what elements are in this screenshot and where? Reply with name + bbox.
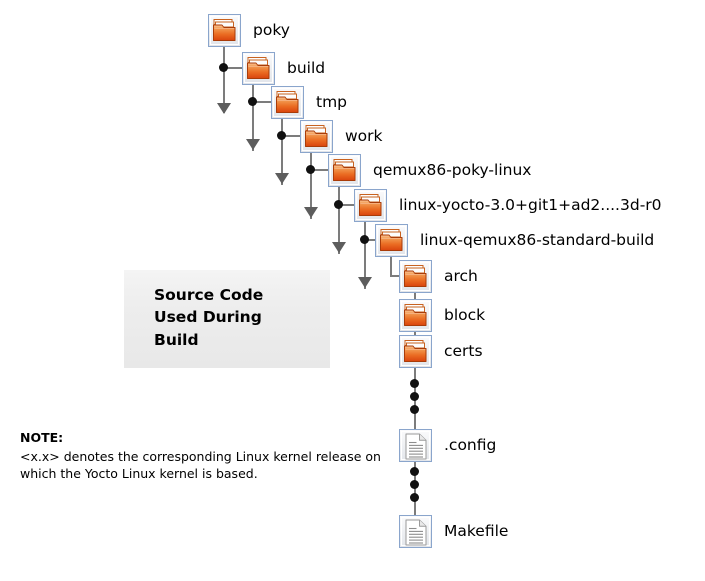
tree-node-work[interactable]: work: [300, 120, 383, 153]
tree-node-label: block: [444, 308, 485, 324]
file-icon: [399, 515, 432, 548]
source-code-callout-box: Source Code Used During Build: [124, 270, 330, 368]
vertical-ellipsis-icon: [410, 392, 419, 401]
folder-icon: [399, 299, 432, 332]
tree-node-label: arch: [444, 269, 478, 285]
note-body: <x.x> denotes the corresponding Linux ke…: [20, 448, 390, 483]
directory-tree-diagram: poky build: [0, 0, 705, 581]
vertical-ellipsis-icon: [410, 480, 419, 489]
tree-node-label: linux-yocto-3.0+git1+ad2....3d-r0: [399, 198, 662, 214]
down-arrow-icon: [304, 207, 318, 218]
tree-node-tmp[interactable]: tmp: [271, 86, 347, 119]
junction-dot-icon: [306, 165, 315, 174]
folder-icon: [375, 224, 408, 257]
tree-node-linux-yocto[interactable]: linux-yocto-3.0+git1+ad2....3d-r0: [354, 189, 662, 222]
folder-icon: [208, 14, 241, 47]
connector-vline-stdbuild: [390, 257, 392, 277]
junction-dot-icon: [334, 200, 343, 209]
down-arrow-icon: [275, 173, 289, 184]
down-arrow-icon: [358, 277, 372, 288]
file-icon: [399, 429, 432, 462]
vertical-ellipsis-icon: [410, 467, 419, 476]
tree-node-label: qemux86-poky-linux: [373, 163, 531, 179]
vertical-ellipsis-icon: [410, 493, 419, 502]
junction-dot-icon: [360, 235, 369, 244]
note-title: NOTE:: [20, 430, 390, 447]
tree-node-makefile[interactable]: Makefile: [399, 515, 508, 548]
vertical-ellipsis-icon: [410, 379, 419, 388]
junction-dot-icon: [248, 97, 257, 106]
tree-node-linux-qemux86-standard-build[interactable]: linux-qemux86-standard-build: [375, 224, 654, 257]
tree-node-label: linux-qemux86-standard-build: [420, 233, 654, 249]
tree-node-label: tmp: [316, 95, 347, 111]
tree-node-build[interactable]: build: [242, 52, 325, 85]
folder-icon: [354, 189, 387, 222]
tree-node-qemux86-poky-linux[interactable]: qemux86-poky-linux: [328, 154, 531, 187]
tree-node-label: poky: [253, 23, 290, 39]
tree-node-dotconfig[interactable]: .config: [399, 429, 496, 462]
tree-node-label: certs: [444, 344, 483, 360]
callout-text: Source Code Used During Build: [154, 284, 263, 351]
tree-node-block[interactable]: block: [399, 299, 485, 332]
note-block: NOTE: <x.x> denotes the corresponding Li…: [20, 430, 390, 482]
tree-node-arch[interactable]: arch: [399, 260, 478, 293]
down-arrow-icon: [246, 139, 260, 150]
folder-icon: [242, 52, 275, 85]
tree-node-label: Makefile: [444, 524, 508, 540]
tree-node-label: build: [287, 61, 325, 77]
folder-icon: [399, 335, 432, 368]
tree-node-certs[interactable]: certs: [399, 335, 483, 368]
junction-dot-icon: [219, 63, 228, 72]
vertical-ellipsis-icon: [410, 405, 419, 414]
folder-icon: [328, 154, 361, 187]
folder-icon: [399, 260, 432, 293]
down-arrow-icon: [217, 103, 231, 114]
tree-node-label: work: [345, 129, 383, 145]
down-arrow-icon: [332, 242, 346, 253]
folder-icon: [300, 120, 333, 153]
tree-node-poky[interactable]: poky: [208, 14, 290, 47]
tree-node-label: .config: [444, 438, 496, 454]
junction-dot-icon: [277, 131, 286, 140]
folder-icon: [271, 86, 304, 119]
